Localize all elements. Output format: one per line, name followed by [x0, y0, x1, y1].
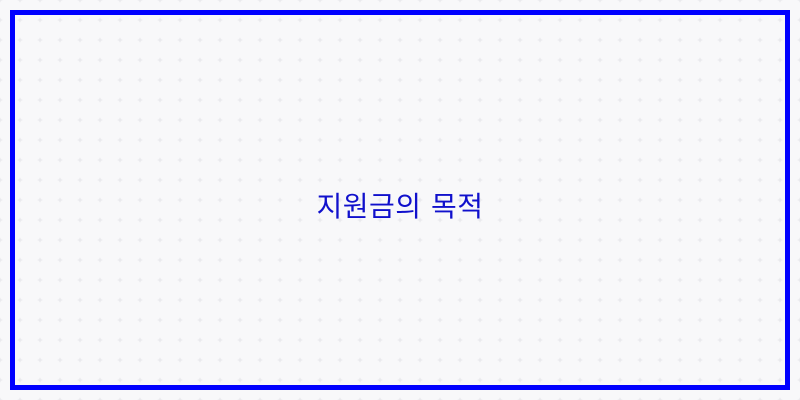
blue-bordered-content-frame: 지원금의 목적 — [10, 10, 790, 390]
slide-canvas: 지원금의 목적 — [0, 0, 800, 400]
page-title: 지원금의 목적 — [317, 193, 484, 221]
